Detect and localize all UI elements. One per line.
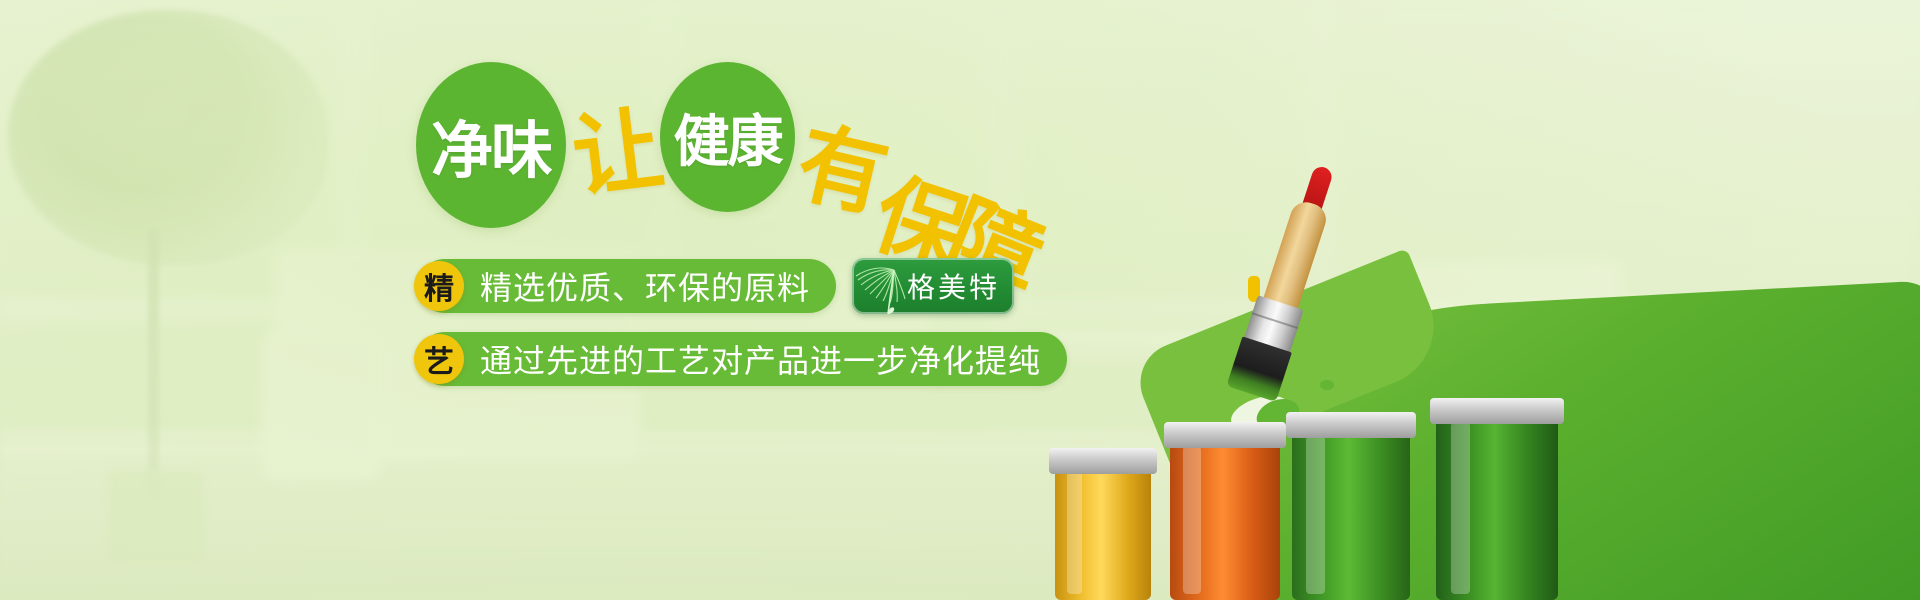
tagline-text: 精选优质、环保的原料 (480, 263, 810, 309)
paint-can-green (1292, 412, 1410, 600)
tagline-row: 艺 通过先进的工艺对产品进一步净化提纯 (418, 332, 1067, 386)
tagline-text: 通过先进的工艺对产品进一步净化提纯 (480, 336, 1041, 382)
brush-handle (1261, 198, 1330, 316)
brand-badge: 格美特 (852, 258, 1014, 314)
can-lid (1286, 412, 1416, 438)
can-lid (1164, 422, 1286, 448)
tagline-badge-yi: 艺 (414, 334, 464, 384)
headline-word-rang: 让 (564, 75, 669, 215)
promotional-banner: 净味 让 健康 有 保 障 精 精选优质、环保的原料 (0, 0, 1920, 600)
can-highlight (1183, 446, 1201, 594)
paint-can-yellow (1055, 448, 1151, 600)
tagline-pill: 精选优质、环保的原料 (418, 259, 836, 313)
paint-can-orange (1170, 422, 1280, 600)
can-highlight (1451, 422, 1471, 594)
tagline-row: 精 精选优质、环保的原料 (418, 258, 1067, 314)
tagline-list: 精 精选优质、环保的原料 (418, 258, 1067, 404)
can-lid (1049, 448, 1157, 474)
headline-word-jiankang: 健康 (660, 62, 795, 212)
can-lid (1430, 398, 1564, 424)
can-highlight (1067, 472, 1082, 594)
paint-can-green (1436, 398, 1558, 600)
tagline-pill: 通过先进的工艺对产品进一步净化提纯 (418, 332, 1067, 386)
can-highlight (1306, 436, 1325, 594)
tagline-badge-jing: 精 (414, 261, 464, 311)
brand-name: 格美特 (907, 266, 1000, 306)
headline-word-jingwei: 净味 (416, 62, 566, 228)
